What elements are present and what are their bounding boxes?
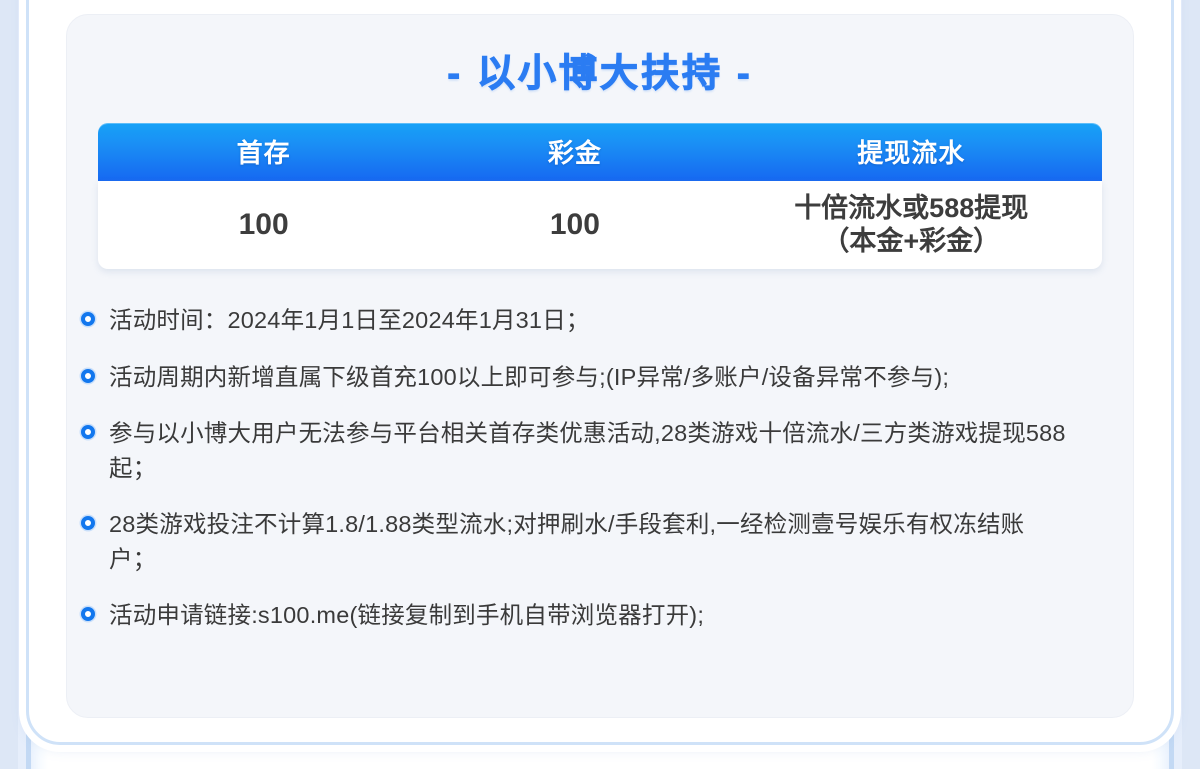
table-header-deposit: 首存 <box>98 123 429 181</box>
promo-card: -以小博大扶持- 首存 彩金 提现流水 100 100 十倍流水或588提现 （… <box>66 14 1134 718</box>
cell-deposit: 100 <box>98 181 429 269</box>
list-item: 活动时间：2024年1月1日至2024年1月31日； <box>81 303 1102 338</box>
bonus-table: 首存 彩金 提现流水 100 100 十倍流水或588提现 （本金+彩金） <box>98 123 1102 269</box>
list-item-label: 参与以小博大用户无法参与平台相关首存类优惠活动,28类游戏十倍流水/三方类游戏提… <box>109 416 1071 485</box>
cell-withdraw-line2: （本金+彩金） <box>822 225 1000 258</box>
list-item-label: 28类游戏投注不计算1.8/1.88类型流水;对押刷水/手段套利,一经检测壹号娱… <box>109 507 1071 576</box>
title-text: 以小博大扶持 <box>477 53 723 95</box>
title-dash-left: - <box>433 55 477 93</box>
table-header-withdraw: 提现流水 <box>720 123 1102 181</box>
cell-bonus: 100 <box>429 181 720 269</box>
list-item-label: 活动周期内新增直属下级首充100以上即可参与;(IP异常/多账户/设备异常不参与… <box>109 360 949 395</box>
ring-bullet-icon <box>81 516 95 530</box>
terms-list: 活动时间：2024年1月1日至2024年1月31日； 活动周期内新增直属下级首充… <box>81 303 1102 633</box>
ring-bullet-icon <box>81 607 95 621</box>
list-item: 活动周期内新增直属下级首充100以上即可参与;(IP异常/多账户/设备异常不参与… <box>81 360 1102 395</box>
list-item-label: 活动时间：2024年1月1日至2024年1月31日； <box>109 303 590 338</box>
cell-withdraw-line1: 十倍流水或588提现 <box>794 192 1028 225</box>
page-title: -以小博大扶持- <box>67 53 1133 93</box>
table-header-bonus: 彩金 <box>429 123 720 181</box>
cell-withdraw: 十倍流水或588提现 （本金+彩金） <box>720 181 1102 269</box>
list-item-label: 活动申请链接:s100.me(链接复制到手机自带浏览器打开); <box>109 598 704 633</box>
list-item: 参与以小博大用户无法参与平台相关首存类优惠活动,28类游戏十倍流水/三方类游戏提… <box>81 416 1102 485</box>
table-row: 100 100 十倍流水或588提现 （本金+彩金） <box>98 181 1102 269</box>
title-dash-right: - <box>723 55 767 93</box>
ring-bullet-icon <box>81 312 95 326</box>
ring-bullet-icon <box>81 369 95 383</box>
ring-bullet-icon <box>81 425 95 439</box>
list-item: 活动申请链接:s100.me(链接复制到手机自带浏览器打开); <box>81 598 1102 633</box>
table-header-row: 首存 彩金 提现流水 <box>98 123 1102 181</box>
list-item: 28类游戏投注不计算1.8/1.88类型流水;对押刷水/手段套利,一经检测壹号娱… <box>81 507 1102 576</box>
